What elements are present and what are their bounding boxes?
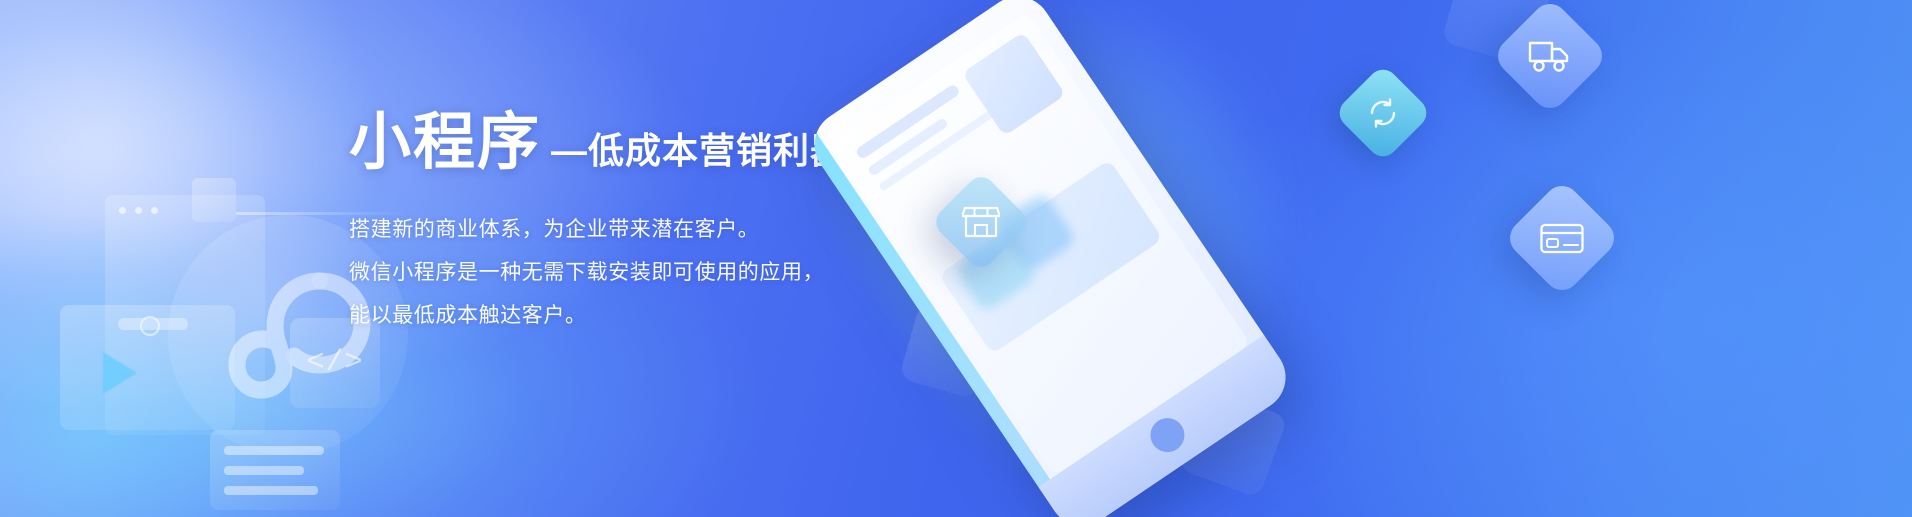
background-square-tile — [192, 178, 236, 222]
headline-secondary: —低成本营销利器 — [551, 133, 847, 174]
window-dots — [119, 207, 158, 214]
media-play-card — [60, 305, 235, 430]
description-line-3: 能以最低成本触达客户。 — [349, 294, 969, 337]
browser-window-card — [105, 195, 265, 435]
list-card — [210, 430, 340, 510]
record-dot-icon — [140, 316, 160, 336]
background-glow-bottom-left — [0, 230, 370, 517]
refresh-cycle-icon — [1334, 64, 1433, 163]
headline-primary: 小程序 — [349, 112, 541, 174]
hero-banner: </> 小程序 —低成本营销利器 搭建新的商业体系，为企业带来潜在客户。 微信小… — [0, 0, 1912, 517]
hero-illustration — [1000, 0, 1912, 517]
play-icon — [103, 352, 137, 394]
progress-bar-decor — [118, 318, 188, 330]
credit-card-icon — [1503, 179, 1622, 298]
